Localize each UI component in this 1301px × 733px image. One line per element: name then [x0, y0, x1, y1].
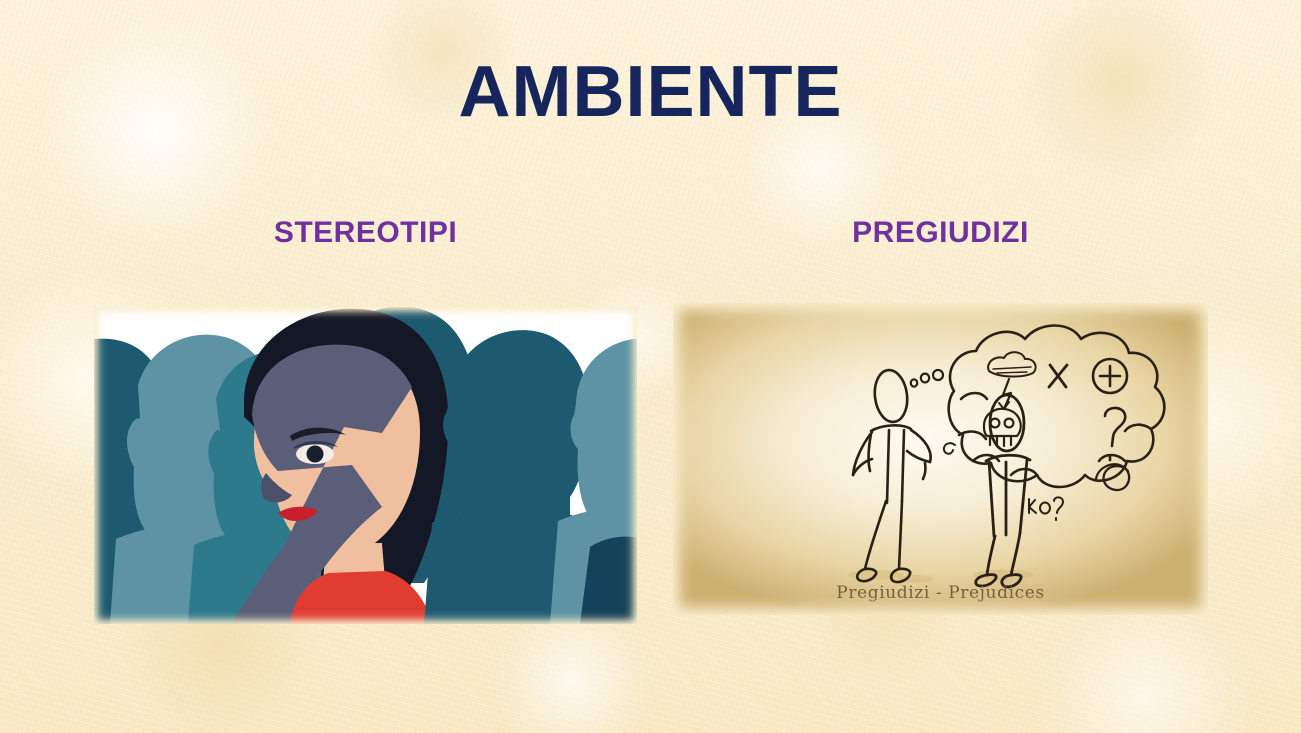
symbol-plus-circle [1093, 359, 1127, 393]
thought-dots [911, 370, 943, 387]
column-heading-pregiudizi: PREGIUDIZI [673, 216, 1208, 250]
symbol-question-mark [1105, 408, 1125, 460]
symbol-ko-text [1029, 497, 1063, 520]
thought-cloud [949, 326, 1165, 488]
prejudices-illustration-svg [673, 303, 1208, 615]
woman-eye-iris [307, 446, 324, 463]
prejudices-caption: Pregiudizi - Prejudices [673, 583, 1208, 603]
prejudices-image: Pregiudizi - Prejudices [673, 303, 1208, 615]
stereotypes-image [94, 307, 637, 624]
symbol-storm-cloud [988, 352, 1036, 376]
column-heading-stereotipi: STEREOTIPI [94, 216, 637, 250]
stick-figure-left [853, 368, 931, 582]
stereotypes-illustration-svg [94, 307, 637, 624]
symbol-small-spiral-left [944, 443, 955, 454]
page-title: AMBIENTE [0, 56, 1301, 128]
symbol-x [1049, 365, 1067, 387]
slide-canvas: AMBIENTE STEREOTIPI PREGIUDIZI [0, 0, 1301, 733]
